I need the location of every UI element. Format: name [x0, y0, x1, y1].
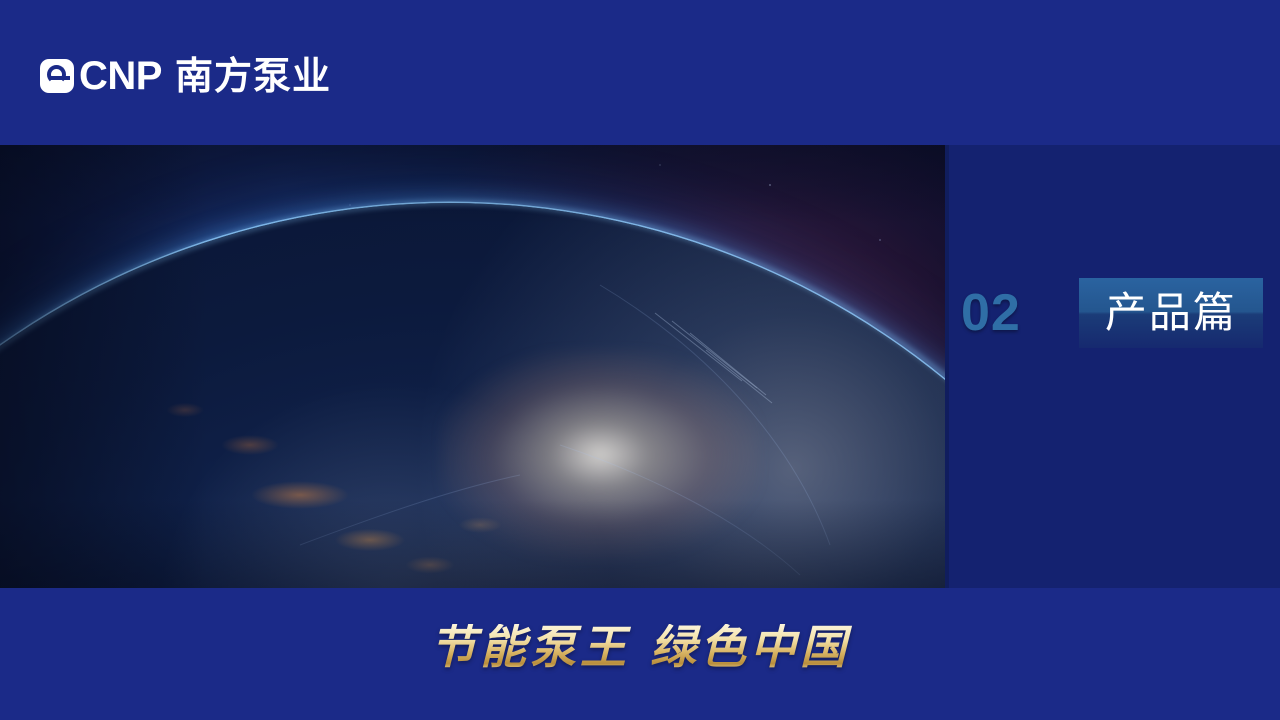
chapter-title-box: 产品篇 — [1079, 278, 1263, 348]
image-vignette — [0, 145, 945, 588]
brand-logo[interactable]: CNP 南方泵业 — [40, 53, 331, 99]
company-slogan: 节能泵王 绿色中国 — [0, 624, 1280, 670]
slide-footer: 节能泵王 绿色中国 — [0, 588, 1280, 720]
logo-chinese-text: 南方泵业 — [175, 57, 331, 95]
earth-from-space-photo — [0, 145, 945, 588]
logo-latin-text: CNP — [79, 56, 162, 96]
chapter-heading: 02 产品篇 — [949, 271, 1280, 355]
presentation-slide: CNP 南方泵业 02 — [0, 0, 1280, 720]
slide-header: CNP 南方泵业 — [0, 0, 1280, 145]
cnp-monogram-icon — [40, 59, 74, 93]
chapter-panel: 02 产品篇 — [949, 145, 1280, 588]
chapter-title: 产品篇 — [1105, 292, 1237, 334]
chapter-number: 02 — [961, 287, 1021, 339]
